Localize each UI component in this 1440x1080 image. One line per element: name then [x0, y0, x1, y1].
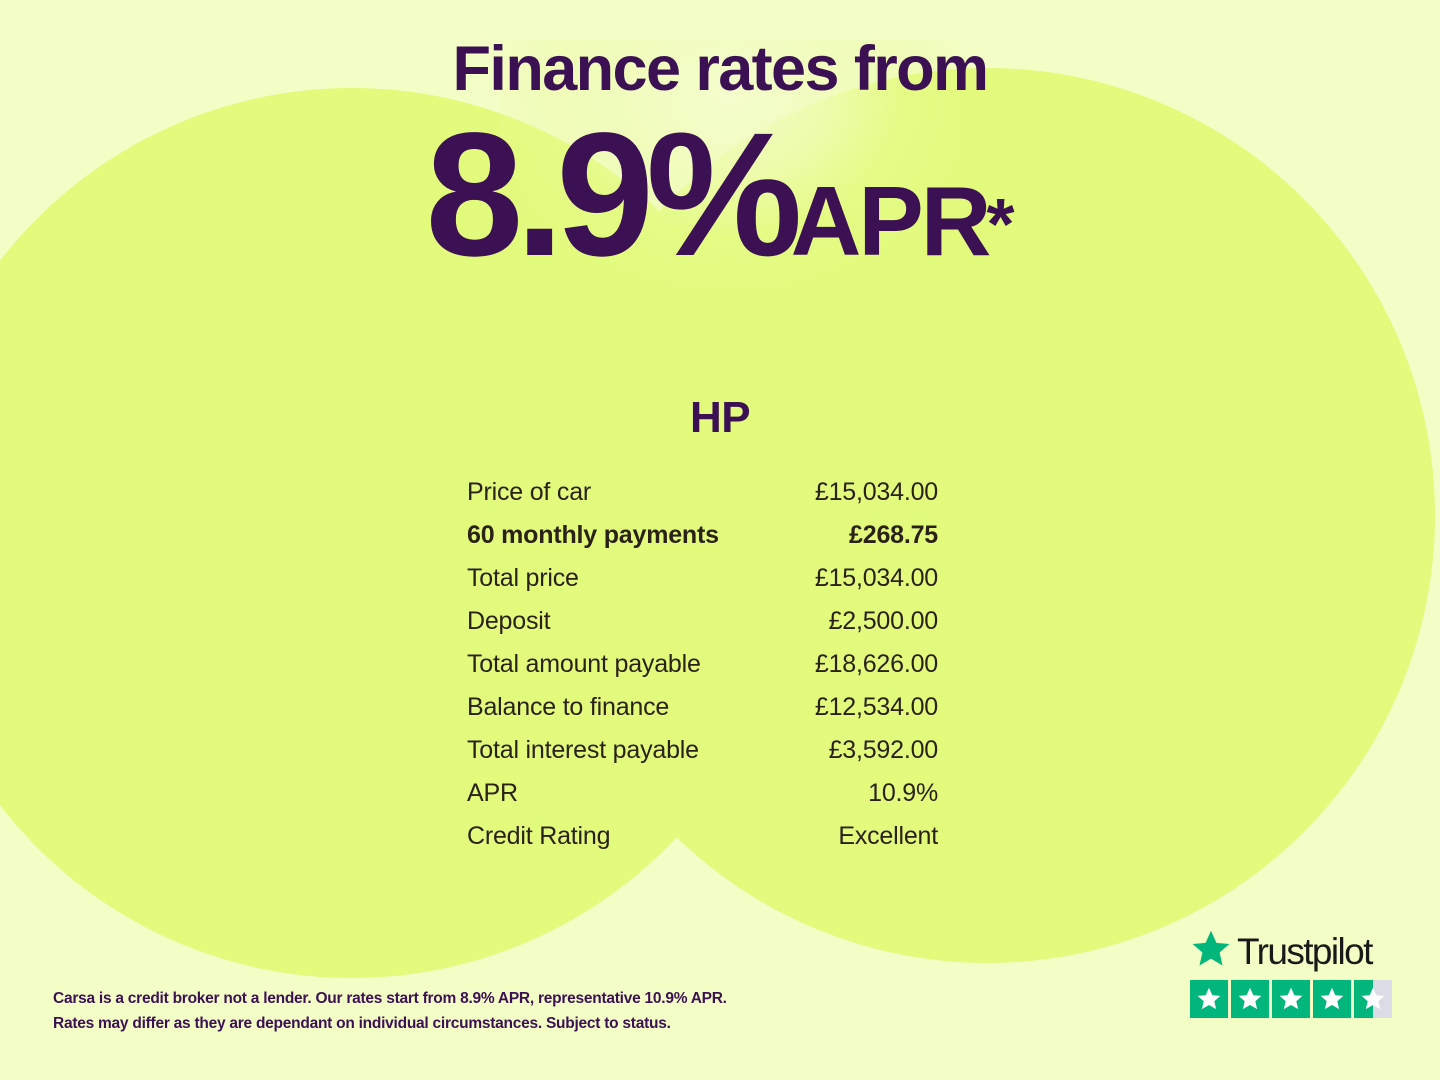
headline-rate-unit: APR — [791, 166, 989, 276]
disclaimer-line-1: Carsa is a credit broker not a lender. O… — [53, 986, 813, 1011]
finance-row: Total price£15,034.00 — [467, 564, 938, 607]
finance-rates-poster: Finance rates from 8.9%APR* HP Price of … — [0, 0, 1440, 1080]
headline-eyebrow: Finance rates from — [0, 38, 1440, 101]
trustpilot-star-half-icon — [1354, 980, 1392, 1018]
trustpilot-name: Trustpilot — [1237, 933, 1372, 970]
finance-row: Credit RatingExcellent — [467, 822, 938, 865]
finance-row-value: £15,034.00 — [815, 478, 938, 507]
trustpilot-star-full-icon — [1272, 980, 1310, 1018]
finance-row: APR10.9% — [467, 779, 938, 822]
finance-row: 60 monthly payments£268.75 — [467, 521, 938, 564]
finance-breakdown-table: Price of car£15,034.0060 monthly payment… — [467, 478, 938, 865]
headline-rate: 8.9%APR* — [0, 107, 1440, 283]
finance-row-label: Total amount payable — [467, 650, 701, 679]
finance-row-label: 60 monthly payments — [467, 521, 719, 550]
finance-row-label: Price of car — [467, 478, 591, 507]
headline-rate-value: 8.9% — [425, 97, 794, 293]
trustpilot-star-full-icon — [1313, 980, 1351, 1018]
finance-row-label: Credit Rating — [467, 822, 610, 851]
finance-row-value: £268.75 — [849, 521, 938, 550]
headline-block: Finance rates from 8.9%APR* — [0, 38, 1440, 283]
finance-row-label: Balance to finance — [467, 693, 669, 722]
headline-footnote-marker: * — [987, 185, 1015, 265]
finance-row-label: APR — [467, 779, 518, 808]
finance-row-label: Deposit — [467, 607, 550, 636]
finance-row: Deposit£2,500.00 — [467, 607, 938, 650]
finance-plan-title: HP — [0, 396, 1440, 440]
trustpilot-star-full-icon — [1190, 980, 1228, 1018]
finance-row-value: £15,034.00 — [815, 564, 938, 593]
finance-row: Price of car£15,034.00 — [467, 478, 938, 521]
finance-row: Total amount payable£18,626.00 — [467, 650, 938, 693]
finance-row-value: £3,592.00 — [829, 736, 938, 765]
finance-row-value: 10.9% — [868, 779, 938, 808]
trustpilot-wordmark: Trustpilot — [1190, 928, 1395, 974]
trustpilot-star-full-icon — [1231, 980, 1269, 1018]
finance-row-value: £2,500.00 — [829, 607, 938, 636]
trustpilot-star-rating — [1190, 980, 1395, 1018]
finance-row: Balance to finance£12,534.00 — [467, 693, 938, 736]
trustpilot-star-icon — [1190, 928, 1232, 975]
finance-row-label: Total price — [467, 564, 579, 593]
finance-row-value: £12,534.00 — [815, 693, 938, 722]
finance-row: Total interest payable£3,592.00 — [467, 736, 938, 779]
finance-row-value: £18,626.00 — [815, 650, 938, 679]
finance-row-label: Total interest payable — [467, 736, 699, 765]
trustpilot-badge[interactable]: Trustpilot — [1190, 928, 1395, 1018]
disclaimer: Carsa is a credit broker not a lender. O… — [53, 986, 813, 1036]
finance-row-value: Excellent — [838, 822, 938, 851]
disclaimer-line-2: Rates may differ as they are dependant o… — [53, 1011, 813, 1036]
